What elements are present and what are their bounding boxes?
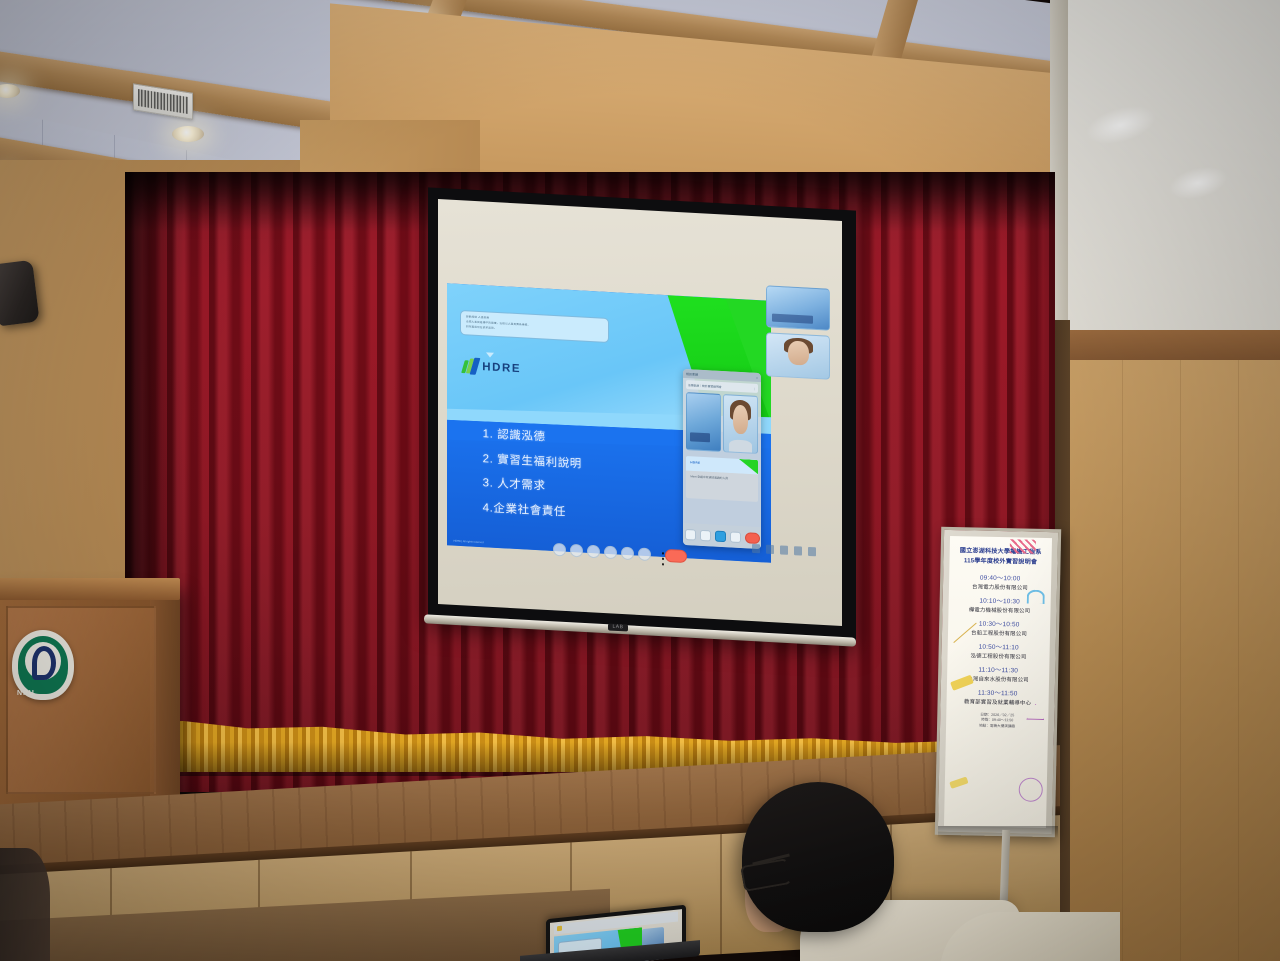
poster-row-org: 泓德工程股份有限公司 (953, 651, 1043, 661)
participant-thumbnail-audience[interactable] (766, 285, 830, 330)
poster-decoration-bar (949, 776, 968, 788)
hdre-wordmark: HDRE (482, 361, 521, 375)
participant-thumbnail-presenter[interactable] (766, 332, 830, 379)
presenter-face (788, 340, 809, 366)
poster-row-time: 09:40～10:00 (955, 572, 1045, 583)
agenda-item: 4.企業社會責任 (483, 503, 697, 526)
auditorium-scene: 節能減碳 人盡其責 泓德人素質是優中的最優，泓德以人盡其責為基礎， 對本業用功在… (0, 0, 1280, 961)
poster-row-time: 10:30～10:50 (954, 618, 1044, 629)
pip-subtitle: 泓德能源｜校外實習說明會 (688, 383, 722, 389)
easel-shadow (938, 826, 1058, 838)
mic-icon[interactable] (553, 542, 566, 556)
poster-schedule-row: 11:30～11:50 教育部實習及就業輔導中心 (953, 687, 1043, 707)
podium-top-surface (0, 578, 180, 600)
raise-hand-icon[interactable] (638, 547, 651, 561)
poster-row-time: 11:10～11:30 (953, 664, 1043, 675)
poster-schedule-row: 10:30～10:50 台船工程股份有限公司 (954, 618, 1044, 638)
hdre-logo: HDRE (463, 357, 521, 377)
npu-logo: NPU (12, 630, 74, 700)
slide-agenda-list: 1. 認識泓德 2. 實習生福利說明 3. 人才需求 4.企業社會責任 (483, 429, 697, 539)
npu-logo-text: NPU (17, 690, 35, 697)
poster-row-time: 11:30～11:50 (953, 687, 1043, 698)
camera-icon[interactable] (570, 543, 583, 557)
pip-tile-audience[interactable] (686, 392, 721, 452)
right-wall-white (1064, 0, 1280, 350)
poster-row-time: 10:50～11:10 (954, 641, 1044, 652)
attendee-head (742, 782, 894, 932)
captions-icon[interactable] (587, 544, 600, 558)
pip-slide-green (731, 458, 758, 474)
pip-window-controls-icon[interactable]: ▫▫ (756, 375, 758, 379)
pip-slide-logo: HDRE (690, 460, 700, 465)
pip-shared-slide[interactable]: HDRE Meet 會議中有連結邀請的人員 (686, 456, 758, 502)
poster-footer: 日期：2026／02／25 時間：09:40～11:50 地點：電機大樓演講廳 (952, 712, 1042, 731)
pip-more-icon[interactable]: ⋮ (753, 386, 756, 390)
poster-footer-line: 地點：電機大樓演講廳 (952, 723, 1042, 731)
hangup-icon[interactable] (665, 548, 687, 562)
poster-schedule-row: 10:50～11:10 泓德工程股份有限公司 (953, 641, 1043, 661)
pip-control-bar (683, 523, 761, 549)
npu-logo-glyph-icon (32, 646, 56, 680)
info-icon[interactable] (752, 543, 760, 552)
agenda-item: 3. 人才需求 (483, 478, 697, 501)
mic-icon[interactable] (685, 528, 696, 540)
pip-tile-presenter[interactable] (723, 394, 758, 454)
camera-icon[interactable] (700, 529, 711, 541)
people-icon[interactable] (766, 544, 774, 553)
pip-participant-grid (683, 389, 761, 457)
hdre-mark-icon (463, 357, 479, 375)
pip-slide-caption: Meet 會議中有連結邀請的人員 (690, 475, 728, 481)
chat-icon[interactable] (780, 545, 788, 554)
poster-decoration-wifi-icon (1027, 590, 1045, 604)
present-icon[interactable] (621, 546, 634, 560)
foreground-shadow-left (0, 848, 50, 961)
poster-row-org: 樺電力機械股份有限公司 (954, 605, 1044, 615)
reaction-icon[interactable] (604, 545, 617, 559)
present-icon[interactable] (715, 530, 726, 542)
poster-title-line2: 115學年度校外實習說明會 (955, 556, 1045, 568)
poster-easel: 國立澎湖科技大學電機工程系 115學年度校外實習說明會 09:40～10:00 … (935, 527, 1061, 837)
activities-icon[interactable] (794, 546, 802, 555)
pip-title: 視訊會議 (686, 372, 698, 377)
roller-brand-badge: LAB (608, 623, 628, 631)
poster-decoration-circle (1019, 777, 1043, 801)
poster-row-org: 教育部實習及就業輔導中心 (953, 697, 1043, 707)
presenter-face (733, 405, 749, 435)
callout-tail (486, 352, 494, 357)
meeting-pip-window[interactable]: 視訊會議 ▫▫ 泓德能源｜校外實習說明會 ⋮ HDRE Meet 會議中有連結邀… (683, 369, 761, 549)
poster-schedule-row: 09:40～10:00 台灣電力股份有限公司 (955, 572, 1045, 592)
agenda-item: 2. 實習生福利說明 (483, 454, 697, 477)
more-options-icon[interactable]: ⋮ (655, 548, 661, 561)
more-icon[interactable] (730, 531, 741, 543)
presenter-body (729, 439, 753, 453)
poster-decoration-stairs (1010, 539, 1036, 554)
right-wall-wood-lower (1064, 360, 1280, 961)
ceiling-light-icon (172, 126, 204, 142)
schedule-poster: 國立澎湖科技大學電機工程系 115學年度校外實習說明會 09:40～10:00 … (944, 536, 1052, 828)
lock-icon[interactable] (808, 546, 816, 555)
